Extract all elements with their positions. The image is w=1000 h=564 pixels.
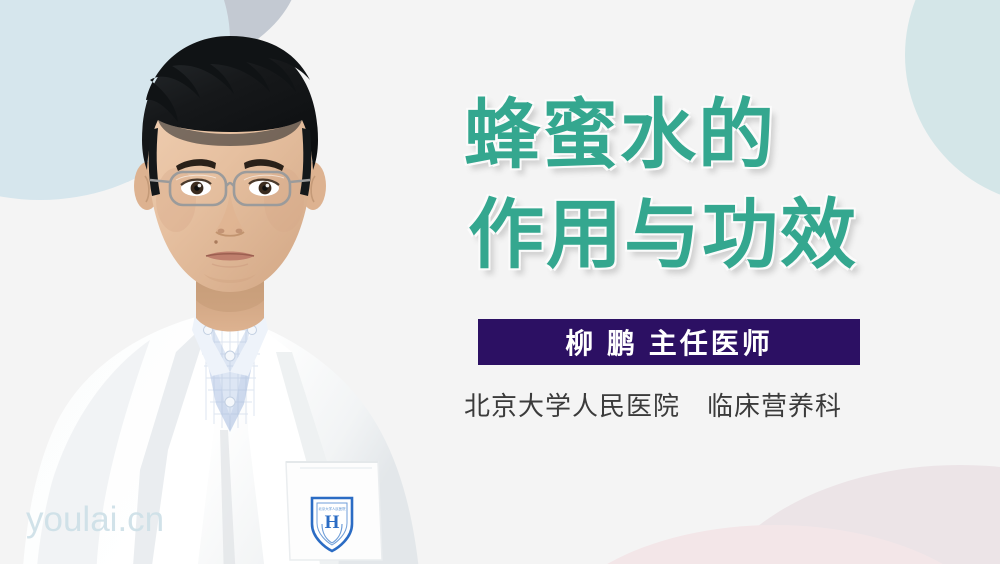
hospital-affiliation: 北京大学人民医院 临床营养科 — [464, 386, 964, 423]
page-title: 蜂蜜水的 作用与功效 — [464, 86, 964, 286]
title-line-2: 作用与功效 — [464, 186, 964, 286]
title-line-1: 蜂蜜水的 — [464, 86, 964, 186]
doctor-name-title: 柳 鹏 主任医师 — [565, 322, 773, 362]
svg-text:北京大学人民医院: 北京大学人民医院 — [318, 506, 346, 511]
doctor-portrait: H 北京大学人民医院 — [0, 0, 460, 564]
text-content: 蜂蜜水的 作用与功效 柳 鹏 主任医师 北京大学人民医院 临床营养科 — [458, 0, 978, 564]
svg-text:H: H — [325, 512, 340, 533]
poster-canvas: H 北京大学人民医院 — [0, 0, 1000, 564]
doctor-name-badge: 柳 鹏 主任医师 — [478, 319, 860, 365]
